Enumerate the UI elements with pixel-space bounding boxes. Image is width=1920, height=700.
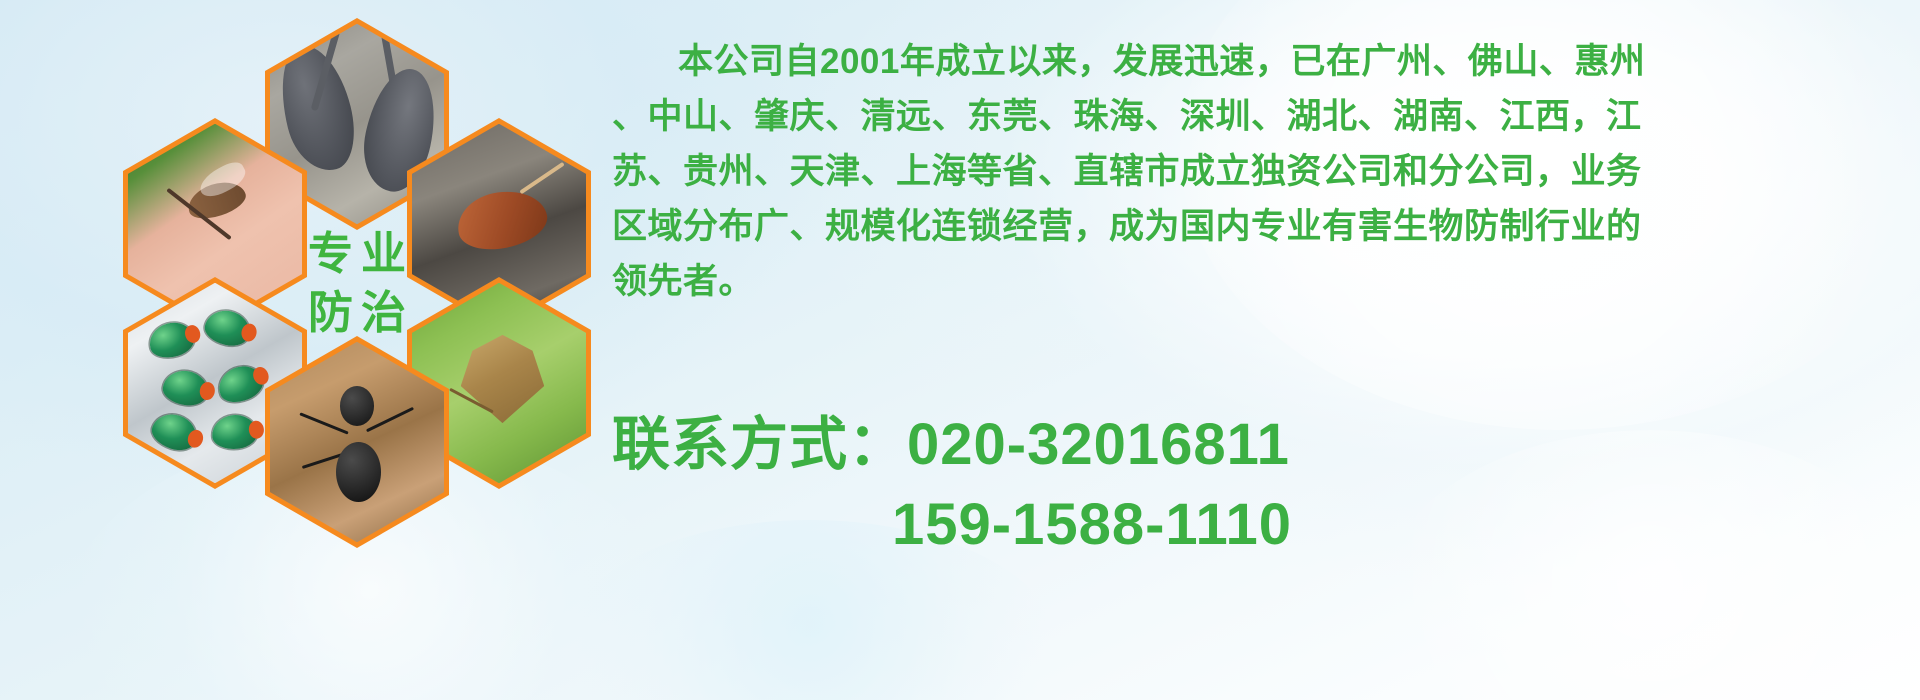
intro-line-2: 、中山、肇庆、清远、东莞、珠海、深圳、湖北、湖南、江西，江: [612, 89, 1862, 144]
fly-icon: [148, 409, 202, 455]
ant-leg-icon: [366, 407, 414, 433]
fly-icon: [145, 317, 198, 362]
slogan-line-2: 防治: [300, 286, 414, 339]
rat-tail-left-icon: [311, 28, 341, 111]
contact-phone-primary[interactable]: 联系方式：020-32016811: [612, 405, 1862, 485]
intro-line-4: 区域分布广、规模化连锁经营，成为国内专业有害生物防制行业的: [612, 199, 1862, 254]
fly-icon: [210, 413, 259, 452]
fly-icon: [201, 306, 252, 349]
mosquito-wing-icon: [195, 158, 249, 202]
intro-line-1: 本公司自2001年成立以来，发展迅速，已在广州、佛山、惠州: [612, 34, 1862, 89]
company-intro-paragraph: 本公司自2001年成立以来，发展迅速，已在广州、佛山、惠州 、中山、肇庆、清远、…: [612, 34, 1862, 309]
slogan-line-1: 专业: [300, 227, 414, 280]
contact-phone-secondary[interactable]: 159-1588-1110: [612, 485, 1862, 565]
promo-banner: 专业 防治 本公司自2001年成立以来，发展迅速，已在广州、佛山、惠州 、中山、…: [0, 0, 1920, 700]
ant-leg-icon: [302, 450, 353, 469]
intro-line-5: 领先者。: [612, 254, 1862, 309]
fly-icon: [161, 368, 211, 408]
intro-line-3: 苏、贵州、天津、上海等省、直辖市成立独资公司和分公司，业务: [612, 144, 1862, 199]
honeycomb-photo-cluster: 专业 防治: [95, 8, 595, 568]
fly-icon: [214, 360, 269, 409]
ant-leg-icon: [299, 412, 349, 434]
rat-tail-right-icon: [381, 32, 403, 116]
contact-block: 联系方式：020-32016811 159-1588-1110: [612, 405, 1862, 565]
